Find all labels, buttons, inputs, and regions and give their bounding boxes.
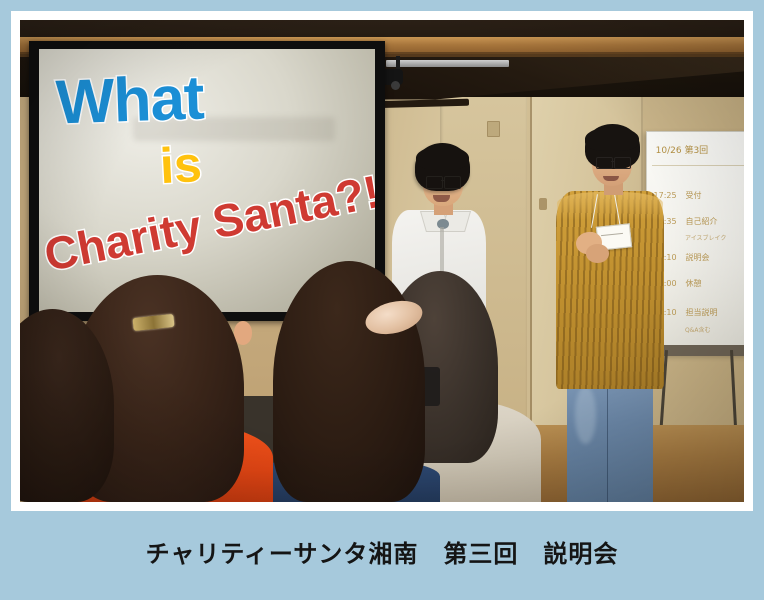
glasses-lens-left-icon (426, 176, 443, 189)
jeans-seam (607, 377, 608, 502)
schedule-item: 説明会 (686, 253, 710, 262)
schedule-item: 受付 (686, 191, 702, 200)
whiteboard-heading: 10/26 第3回 (656, 143, 709, 156)
glasses-lens-right-icon (614, 157, 631, 170)
event-photograph: What is Charity Santa?! 10/26 第3回 17:25受… (20, 20, 744, 502)
schedule-note: Q&A含む (685, 325, 711, 334)
door-handle-icon (539, 198, 547, 210)
photo-card-page: What is Charity Santa?! 10/26 第3回 17:25受… (0, 0, 764, 600)
schedule-item: 休憩 (686, 279, 702, 288)
glasses-bridge-icon (441, 180, 445, 181)
glasses-lens-right-icon (444, 176, 461, 189)
glasses-bridge-icon (611, 161, 615, 162)
slide-text-what: What (54, 62, 204, 138)
ceiling-light-track (386, 60, 509, 67)
wall-outlet-icon (487, 121, 500, 137)
presenter-jacket-fringe (585, 127, 639, 151)
photo-frame: What is Charity Santa?! 10/26 第3回 17:25受… (11, 11, 753, 511)
audience-scrunchie-hair (273, 261, 425, 502)
jeans-fade (575, 386, 597, 444)
jacket-shoulder-highlight (557, 192, 663, 221)
slide-text-is: is (159, 135, 204, 195)
schedule-note: アイスブレイク (685, 233, 726, 242)
presenter-striped-jacket-body (556, 191, 665, 389)
photo-caption: チャリティーサンタ湘南 第三回 説明会 (0, 516, 764, 586)
schedule-item: 自己紹介 (686, 217, 718, 226)
slide-text-charity-santa: Charity Santa?! (40, 164, 375, 282)
glasses-lens-left-icon (596, 157, 613, 170)
presenter-white-shirt-fringe (416, 146, 469, 170)
schedule-item: 担当説明 (686, 308, 718, 317)
whiteboard-rule (652, 165, 744, 166)
